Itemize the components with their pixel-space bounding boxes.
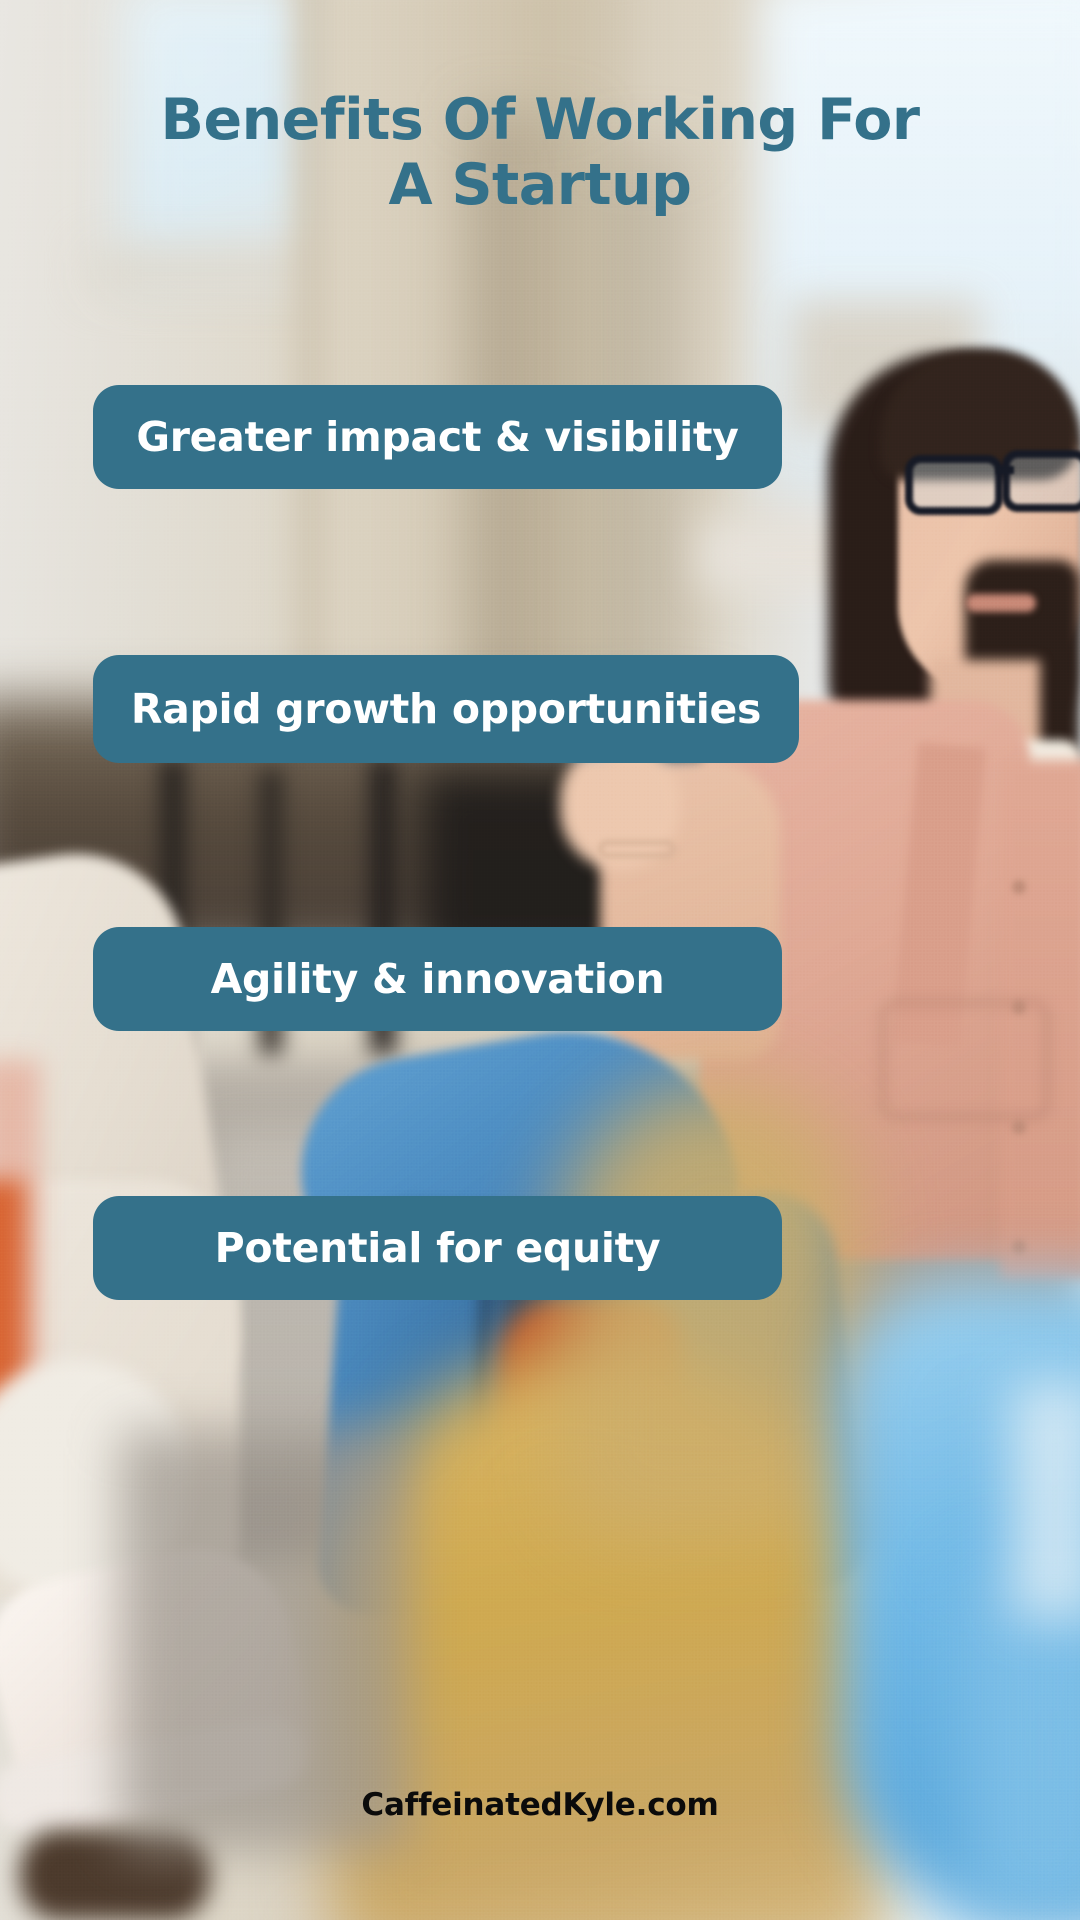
content-overlay: Benefits Of Working For A Startup Greate… [0, 0, 1080, 1920]
benefit-item-4-label: Potential for equity [215, 1224, 661, 1272]
benefit-item-3: Agility & innovation [93, 927, 782, 1031]
page-title: Benefits Of Working For A Startup [0, 88, 1080, 218]
infographic-canvas: Benefits Of Working For A Startup Greate… [0, 0, 1080, 1920]
benefit-item-2: Rapid growth opportunities [93, 655, 799, 763]
benefit-item-1-label: Greater impact & visibility [136, 413, 738, 461]
page-title-line-2: A Startup [110, 153, 970, 218]
footer-website[interactable]: CaffeinatedKyle.com [0, 1787, 1080, 1823]
benefit-item-2-label: Rapid growth opportunities [131, 685, 761, 733]
page-title-line-1: Benefits Of Working For [110, 88, 970, 153]
benefit-item-3-label: Agility & innovation [211, 955, 665, 1003]
benefit-item-1: Greater impact & visibility [93, 385, 782, 489]
benefit-item-4: Potential for equity [93, 1196, 782, 1300]
